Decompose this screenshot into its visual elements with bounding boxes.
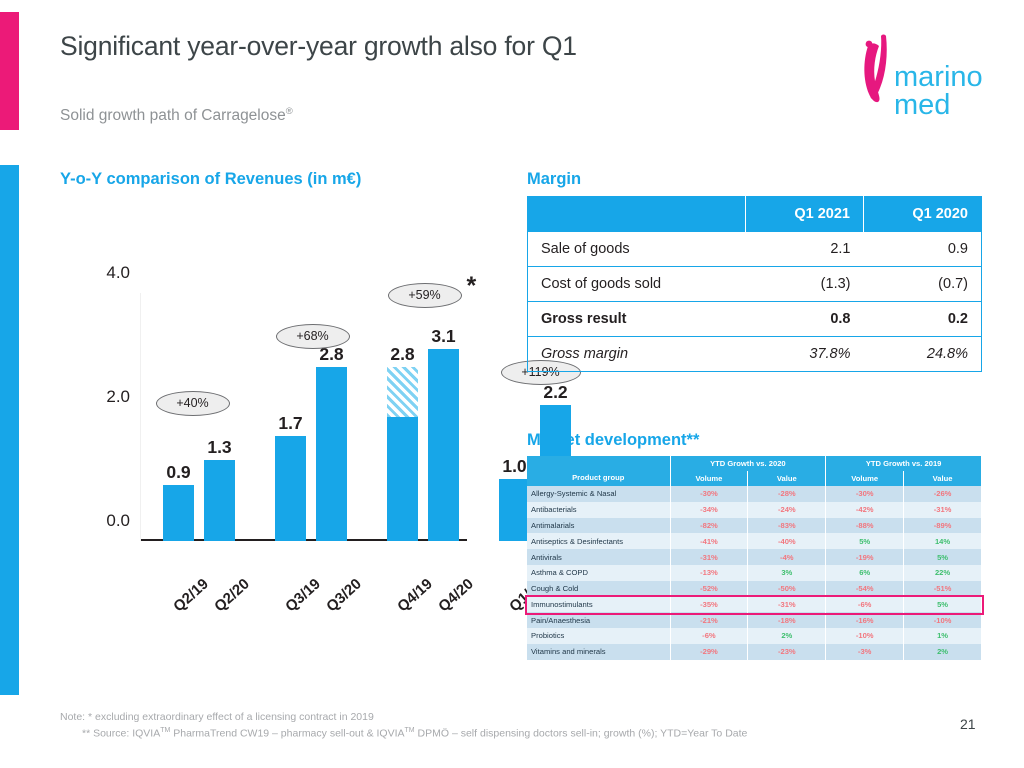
margin-col-q1-2021: Q1 2021 [746,197,864,232]
market-table-group-header-row: Product group YTD Growth vs. 2020 YTD Gr… [527,456,982,471]
footnote-2-part-b: PharmaTrend CW19 – pharmacy sell-out & I… [170,728,404,740]
margin-row-label: Cost of goods sold [528,267,746,302]
margin-row-label: Gross result [528,302,746,337]
market-col-volume-2019: Volume [826,471,904,486]
market-cell-value-2019: -51% [904,581,982,597]
market-row-product-group: Immunostimulants [527,596,670,612]
market-cell-volume-2020: -35% [670,596,748,612]
chart-y-tick: 4.0 [106,263,130,283]
market-cell-value-2019: -31% [904,502,982,518]
chart-x-label: Q4/19 [394,575,436,615]
market-table-row: Immunostimulants-35%-31%-6%5% [527,596,982,612]
chart-bar [387,417,418,541]
market-table-row: Antivirals-31%-4%-19%5% [527,549,982,565]
chart-bar-value-label: 1.0 [502,456,526,477]
market-row-product-group: Allergy-Systemic & Nasal [527,486,670,502]
market-cell-volume-2020: -82% [670,518,748,534]
margin-value-q1-2021: 2.1 [746,232,864,267]
margin-table-row: Cost of goods sold(1.3)(0.7) [528,267,982,302]
market-cell-volume-2019: -42% [826,502,904,518]
market-cell-value-2019: 5% [904,549,982,565]
market-cell-value-2020: -28% [748,486,826,502]
market-row-product-group: Antimalarials [527,518,670,534]
market-row-product-group: Asthma & COPD [527,565,670,581]
margin-row-label: Sale of goods [528,232,746,267]
page-subtitle: Solid growth path of Carragelose® [60,106,293,125]
marinomed-logo: marino med [838,28,988,128]
market-cell-volume-2019: -6% [826,596,904,612]
margin-table-row: Sale of goods2.10.9 [528,232,982,267]
market-col-product-group: Product group [527,456,670,486]
market-table-row: Cough & Cold-52%-50%-54%-51% [527,581,982,597]
market-row-product-group: Cough & Cold [527,581,670,597]
footnote-2: ** Source: IQVIATM PharmaTrend CW19 – ph… [82,727,747,740]
market-group-ytd-2020: YTD Growth vs. 2020 [670,456,826,471]
market-cell-value-2020: -4% [748,549,826,565]
market-row-product-group: Pain/Anaesthesia [527,612,670,628]
market-cell-value-2020: -50% [748,581,826,597]
market-table-row: Antiseptics & Desinfectants-41%-40%5%14% [527,533,982,549]
market-cell-value-2019: 1% [904,628,982,644]
chart-x-label: Q3/19 [282,575,324,615]
market-row-product-group: Antivirals [527,549,670,565]
page-number: 21 [960,716,976,732]
margin-value-q1-2021: 37.8% [746,337,864,372]
margin-value-q1-2020: 0.2 [864,302,982,337]
chart-growth-callout: +59% [388,283,462,308]
footnote-1: Note: * excluding extraordinary effect o… [60,711,374,723]
chart-bar-value-label: 0.9 [166,462,190,483]
market-cell-volume-2019: -10% [826,628,904,644]
market-cell-value-2020: 2% [748,628,826,644]
market-cell-value-2019: -26% [904,486,982,502]
market-row-product-group: Antiseptics & Desinfectants [527,533,670,549]
market-table-row: Probiotics-6%2%-10%1% [527,628,982,644]
chart-growth-callout: +40% [156,391,230,416]
market-cell-volume-2020: -34% [670,502,748,518]
market-cell-volume-2019: -54% [826,581,904,597]
chart-bar-value-label: 2.2 [543,382,567,403]
market-row-product-group: Probiotics [527,628,670,644]
market-table-row: Pain/Anaesthesia-21%-18%-16%-10% [527,612,982,628]
market-col-value-2019: Value [904,471,982,486]
margin-value-q1-2020: 0.9 [864,232,982,267]
chart-x-label: Q2/19 [170,575,212,615]
chart-bar [204,460,235,541]
chart-growth-callout: +68% [276,324,350,349]
market-cell-value-2019: 22% [904,565,982,581]
margin-col-label [528,197,746,232]
market-table-row: Vitamins and minerals-29%-23%-3%2% [527,644,982,660]
market-cell-volume-2020: -30% [670,486,748,502]
chart-bar [499,479,530,541]
market-cell-value-2020: -18% [748,612,826,628]
slide-canvas: Significant year-over-year growth also f… [0,0,1024,768]
logo-mark-icon [864,35,886,103]
market-table-row: Antibacterials-34%-24%-42%-31% [527,502,982,518]
chart-x-label: Q3/20 [323,575,365,615]
margin-value-q1-2021: (1.3) [746,267,864,302]
margin-heading: Margin [527,170,581,189]
market-cell-value-2020: -31% [748,596,826,612]
chart-bar [316,367,347,541]
market-table-row: Asthma & COPD-13%3%6%22% [527,565,982,581]
margin-table-row: Gross margin37.8%24.8% [528,337,982,372]
left-edge-bar-pink [0,12,19,130]
market-cell-volume-2019: -3% [826,644,904,660]
chart-bar [275,436,306,541]
market-cell-volume-2019: -16% [826,612,904,628]
subtitle-text: Solid growth path of Carragelose [60,107,286,124]
margin-value-q1-2021: 0.8 [746,302,864,337]
market-row-product-group: Antibacterials [527,502,670,518]
chart-bar-value-label: 1.3 [207,437,231,458]
chart-plot-area: 0.02.04.00.9Q2/191.3Q2/201.7Q3/192.8Q3/2… [140,293,485,541]
margin-value-q1-2020: 24.8% [864,337,982,372]
market-cell-volume-2019: -19% [826,549,904,565]
market-cell-value-2020: -83% [748,518,826,534]
margin-table-row: Gross result0.80.2 [528,302,982,337]
market-cell-volume-2020: -31% [670,549,748,565]
market-cell-volume-2020: -6% [670,628,748,644]
market-cell-value-2019: 14% [904,533,982,549]
registered-mark: ® [286,106,293,117]
market-development-table: Product group YTD Growth vs. 2020 YTD Gr… [527,456,982,660]
market-group-ytd-2019: YTD Growth vs. 2019 [826,456,982,471]
chart-bar-value-label: 2.8 [390,344,414,365]
footnote-2-tm-1: TM [160,727,170,734]
chart-x-label: Q2/20 [211,575,253,615]
chart-y-tick: 2.0 [106,387,130,407]
market-col-value-2020: Value [748,471,826,486]
chart-y-tick: 0.0 [106,511,130,531]
logo-text-line2: med [894,89,950,121]
chart-bar [428,349,459,541]
market-cell-value-2019: -89% [904,518,982,534]
revenue-bar-chart: 0.02.04.00.9Q2/191.3Q2/201.7Q3/192.8Q3/2… [55,285,485,585]
market-cell-volume-2020: -29% [670,644,748,660]
chart-bar-hatched-segment [387,367,418,417]
chart-bar-value-label: 1.7 [278,413,302,434]
market-cell-value-2020: -23% [748,644,826,660]
margin-col-q1-2020: Q1 2020 [864,197,982,232]
market-col-volume-2020: Volume [670,471,748,486]
market-cell-value-2020: -24% [748,502,826,518]
market-cell-volume-2019: 5% [826,533,904,549]
margin-table: Q1 2021 Q1 2020 Sale of goods2.10.9Cost … [527,196,982,372]
margin-table-header-row: Q1 2021 Q1 2020 [528,197,982,232]
margin-value-q1-2020: (0.7) [864,267,982,302]
left-edge-bar-cyan [0,165,19,695]
margin-row-label: Gross margin [528,337,746,372]
market-cell-volume-2020: -13% [670,565,748,581]
chart-heading: Y-o-Y comparison of Revenues (in m€) [60,170,361,189]
footnote-2-part-c: DPMÖ – self dispensing doctors sell-in; … [415,728,748,740]
market-cell-value-2020: -40% [748,533,826,549]
market-cell-value-2019: 5% [904,596,982,612]
market-row-product-group: Vitamins and minerals [527,644,670,660]
market-cell-volume-2020: -52% [670,581,748,597]
footnote-2-part-a: ** Source: IQVIA [82,728,160,740]
chart-callout-asterisk: * [467,274,477,299]
market-table-row: Allergy-Systemic & Nasal-30%-28%-30%-26% [527,486,982,502]
market-cell-value-2019: -10% [904,612,982,628]
market-table-row: Antimalarials-82%-83%-88%-89% [527,518,982,534]
chart-x-label: Q4/20 [435,575,477,615]
market-cell-volume-2020: -41% [670,533,748,549]
chart-bar [163,485,194,541]
chart-bar-value-label: 3.1 [431,326,455,347]
market-cell-volume-2019: -30% [826,486,904,502]
market-cell-volume-2019: 6% [826,565,904,581]
page-title: Significant year-over-year growth also f… [60,31,577,62]
market-cell-value-2020: 3% [748,565,826,581]
market-cell-volume-2019: -88% [826,518,904,534]
market-cell-volume-2020: -21% [670,612,748,628]
footnote-2-tm-2: TM [405,727,415,734]
market-cell-value-2019: 2% [904,644,982,660]
